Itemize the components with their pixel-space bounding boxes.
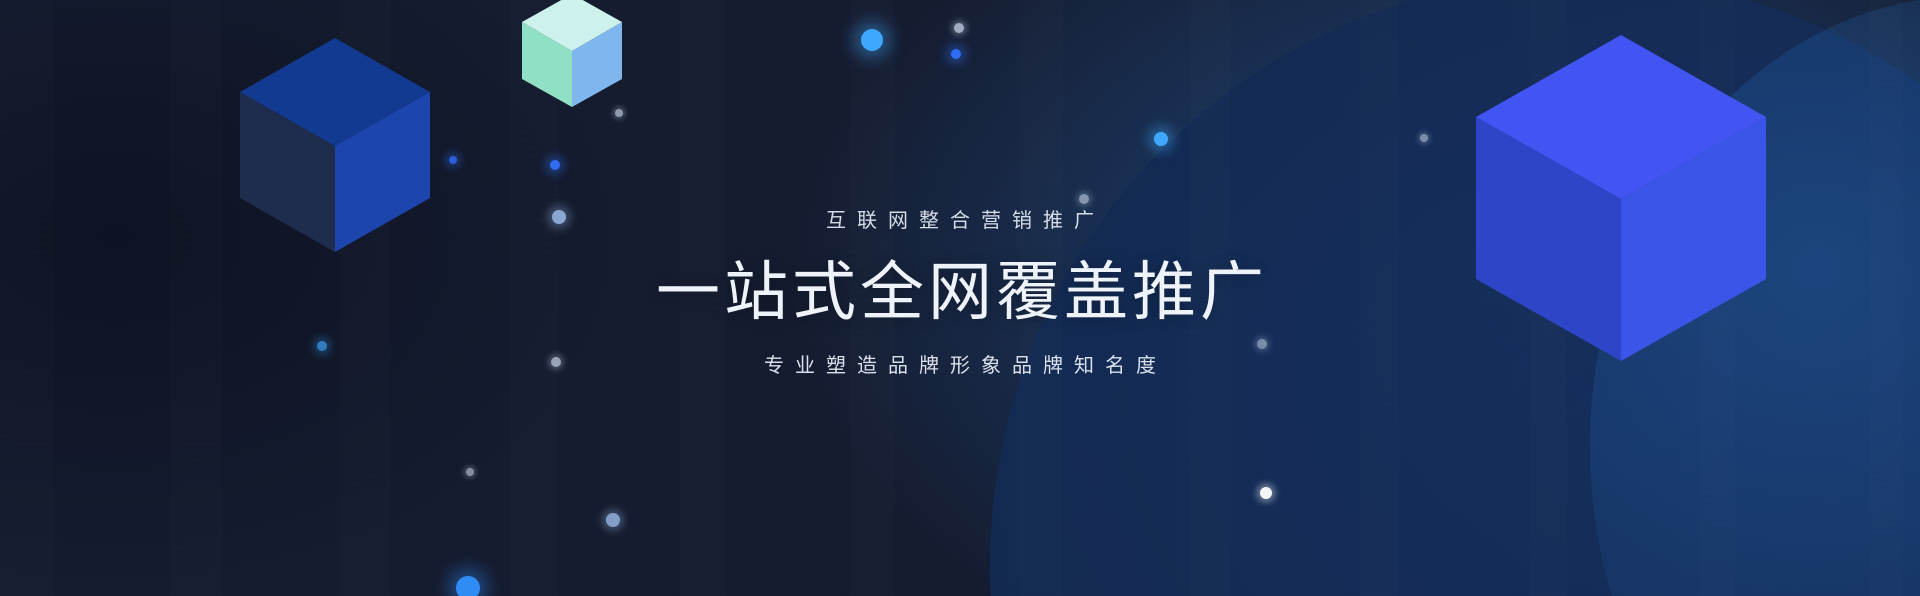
particle-dot <box>1420 134 1428 142</box>
particle-dot <box>1154 132 1168 146</box>
particle-dot <box>951 49 961 59</box>
hero-headline: 一站式全网覆盖推广 <box>0 253 1920 331</box>
hero-banner: 互联网整合营销推广 一站式全网覆盖推广 专业塑造品牌形象品牌知名度 <box>0 0 1920 596</box>
particle-dot <box>1260 487 1272 499</box>
particle-dot <box>449 156 457 164</box>
particle-dot <box>466 468 474 476</box>
particle-dot <box>1079 194 1089 204</box>
particle-dot <box>550 160 560 170</box>
hero-tagline: 专业塑造品牌形象品牌知名度 <box>0 353 1920 380</box>
particle-dot <box>861 29 883 51</box>
particle-dot <box>954 23 964 33</box>
cube-decor-green-icon <box>522 0 622 107</box>
particle-dot <box>615 109 623 117</box>
hero-copy-block: 互联网整合营销推广 一站式全网覆盖推广 专业塑造品牌形象品牌知名度 <box>0 208 1920 380</box>
particle-dot <box>606 513 620 527</box>
particle-dot <box>456 576 480 596</box>
hero-eyebrow: 互联网整合营销推广 <box>0 208 1920 235</box>
